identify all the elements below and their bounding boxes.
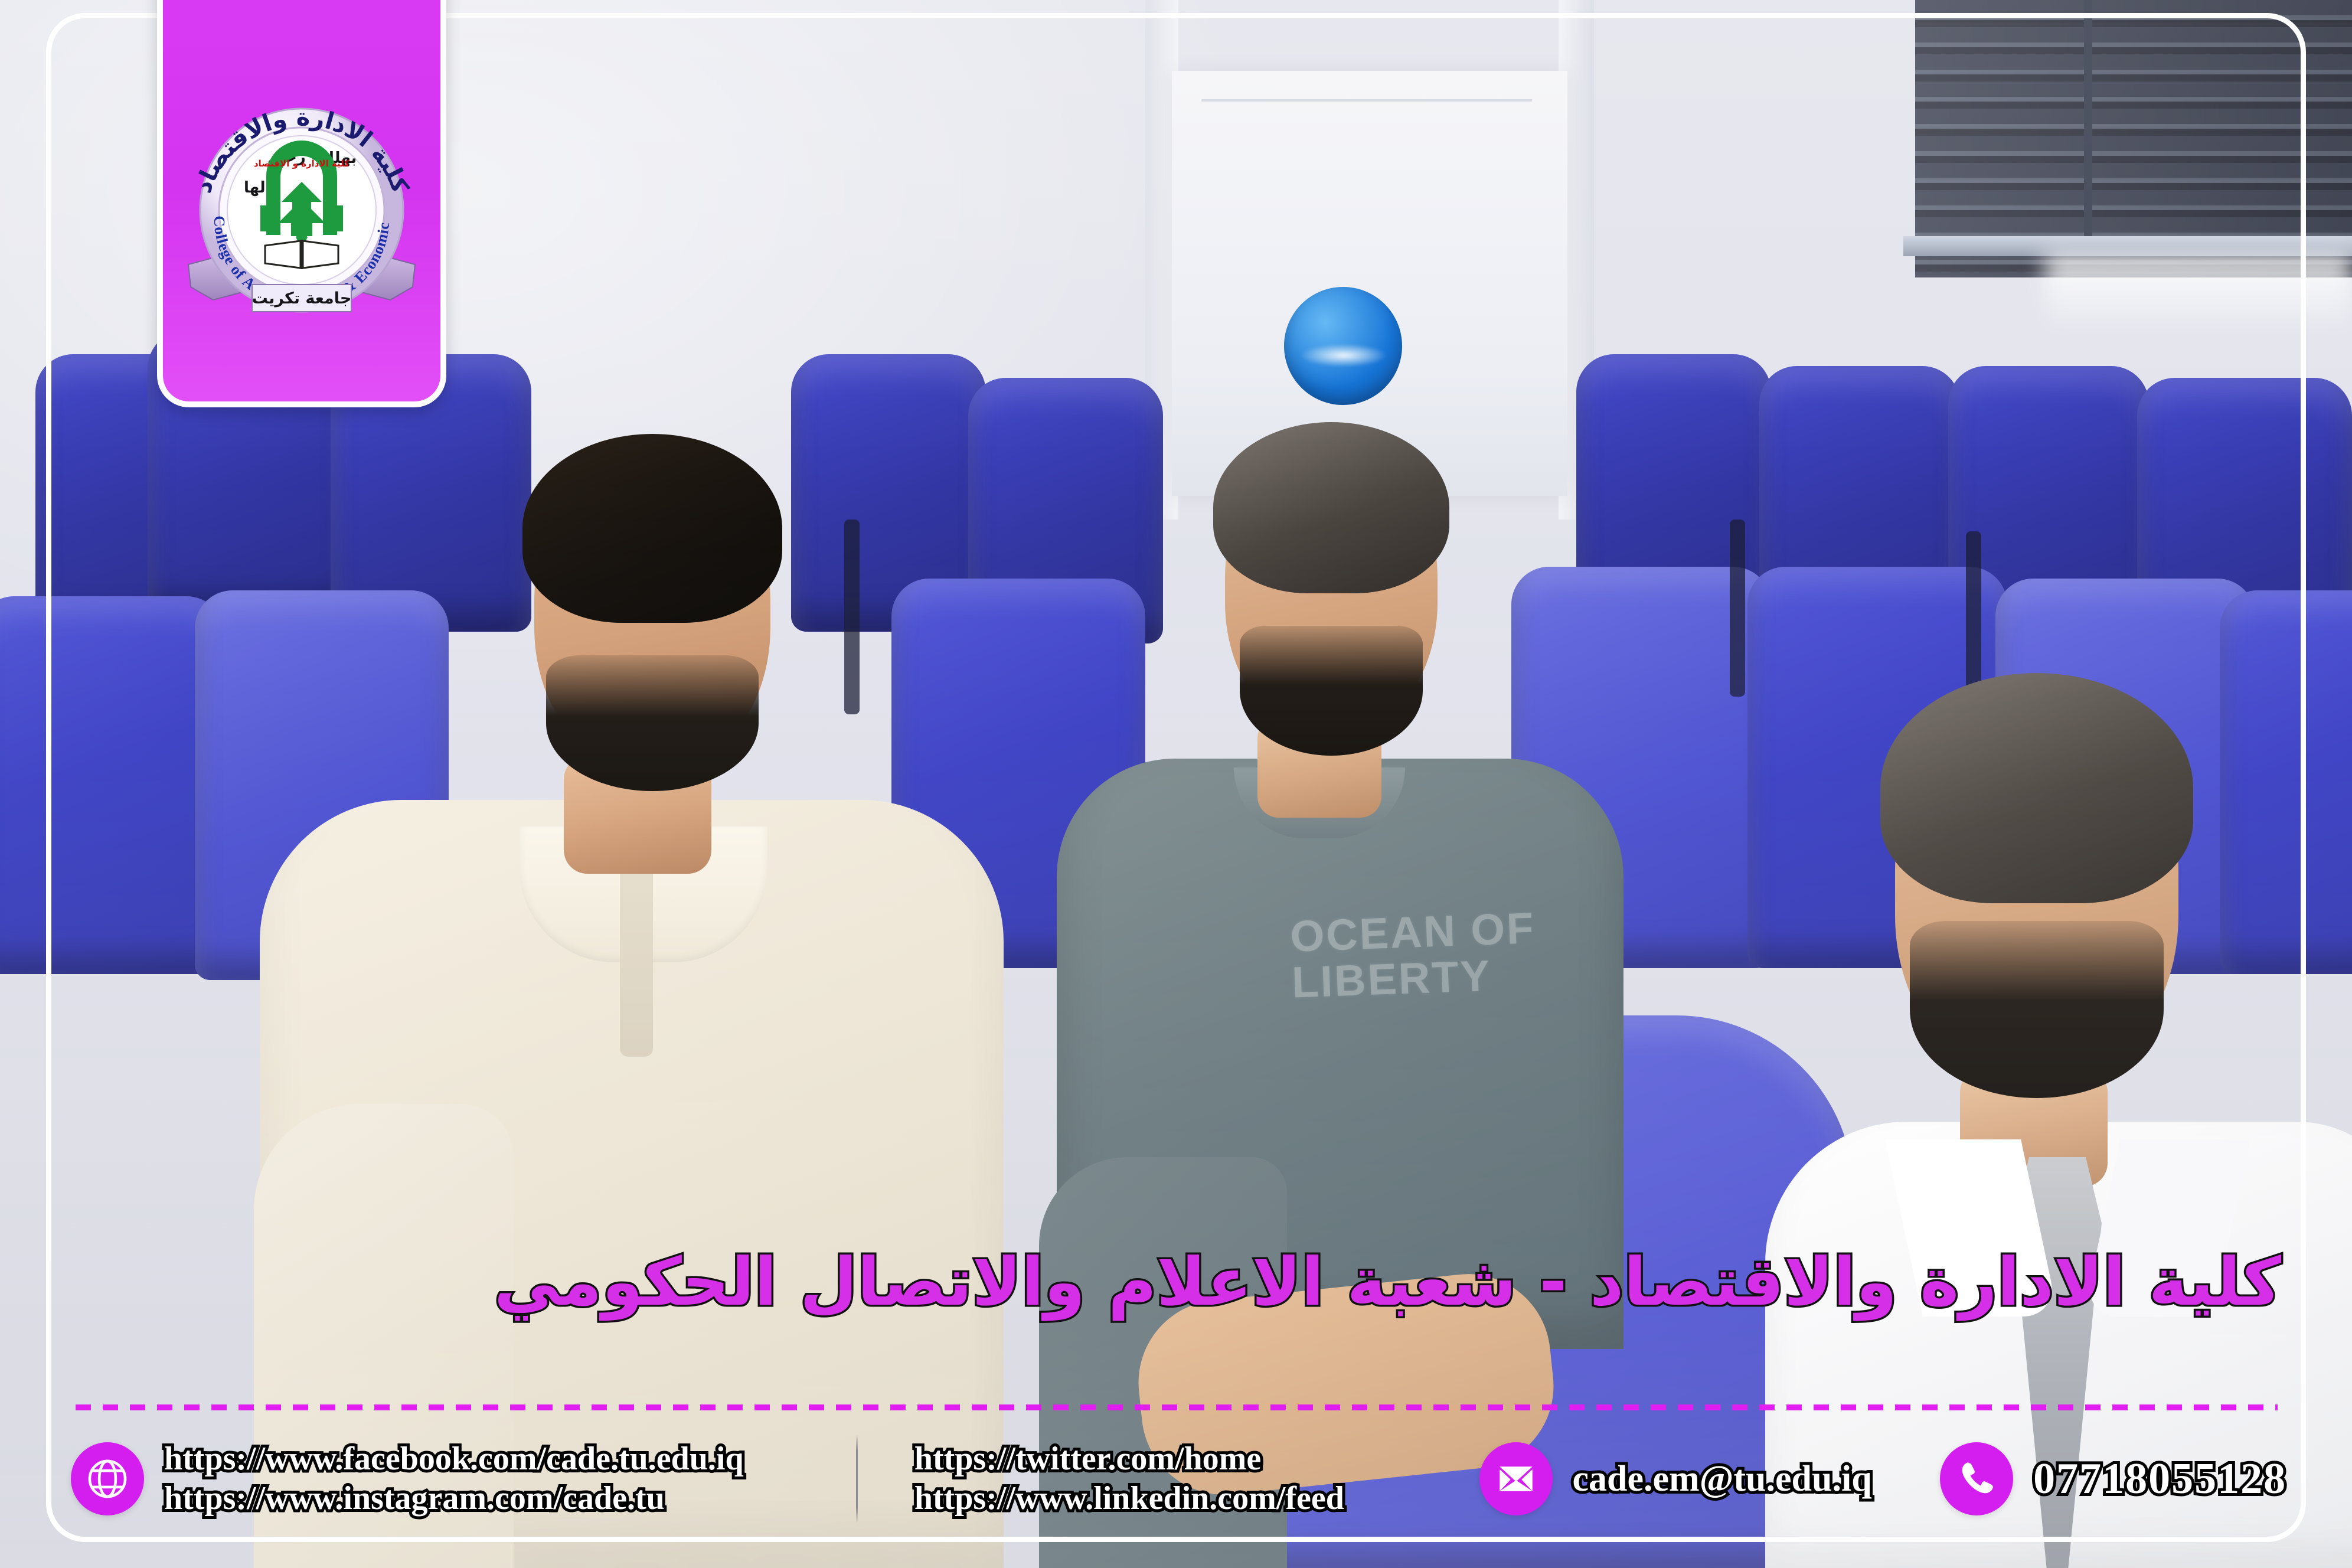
dashed-divider [76,1404,2278,1410]
footer-social-links: https://twitter.com/home https://www.lin… [914,1442,1344,1515]
seal-ribbon-text: جامعة تكريت [252,289,352,308]
linkedin-url[interactable]: https://www.linkedin.com/feed [914,1482,1344,1515]
banner-headline: كلية الادارة والاقتصاد - شعبة الاعلام وا… [71,1246,2281,1319]
frame-right-break [2300,1027,2309,1148]
college-logo-panel: كلية الادارة والاقتصاد College of Admini… [157,0,446,407]
footer-web-links: https://www.facebook.com/cade.tu.edu.iq … [164,1442,744,1515]
college-seal-logo: كلية الادارة والاقتصاد College of Admini… [178,87,426,335]
seal-inner-script-bottom: لها [244,179,266,197]
footer-group-web: https://www.facebook.com/cade.tu.edu.iq … [71,1442,856,1515]
seal-ribbon-plate: جامعة تكريت [252,285,352,312]
footer-group-email: cade.em@tu.edu.iq [1479,1442,1941,1515]
phone-number[interactable]: 07718055128 [2033,1454,2286,1504]
instagram-url[interactable]: https://www.instagram.com/cade.tu [164,1482,744,1515]
seal-emblem-arabic: كلية الادارة و الاقتصاد [254,158,349,169]
footer-group-phone: 07718055128 [1940,1442,2287,1515]
mail-icon[interactable] [1479,1442,1553,1515]
facebook-url[interactable]: https://www.facebook.com/cade.tu.edu.iq [164,1442,744,1476]
seal-open-book [265,240,338,269]
footer-group-social: https://twitter.com/home https://www.lin… [858,1442,1479,1515]
twitter-url[interactable]: https://twitter.com/home [914,1442,1344,1476]
contact-footer: https://www.facebook.com/cade.tu.edu.iq … [71,1423,2287,1535]
email-address[interactable]: cade.em@tu.edu.iq [1573,1458,1872,1500]
phone-icon[interactable] [1940,1442,2013,1515]
banner-canvas: OCEAN OF LIBERTY [0,0,2352,1568]
globe-icon[interactable] [71,1442,144,1515]
